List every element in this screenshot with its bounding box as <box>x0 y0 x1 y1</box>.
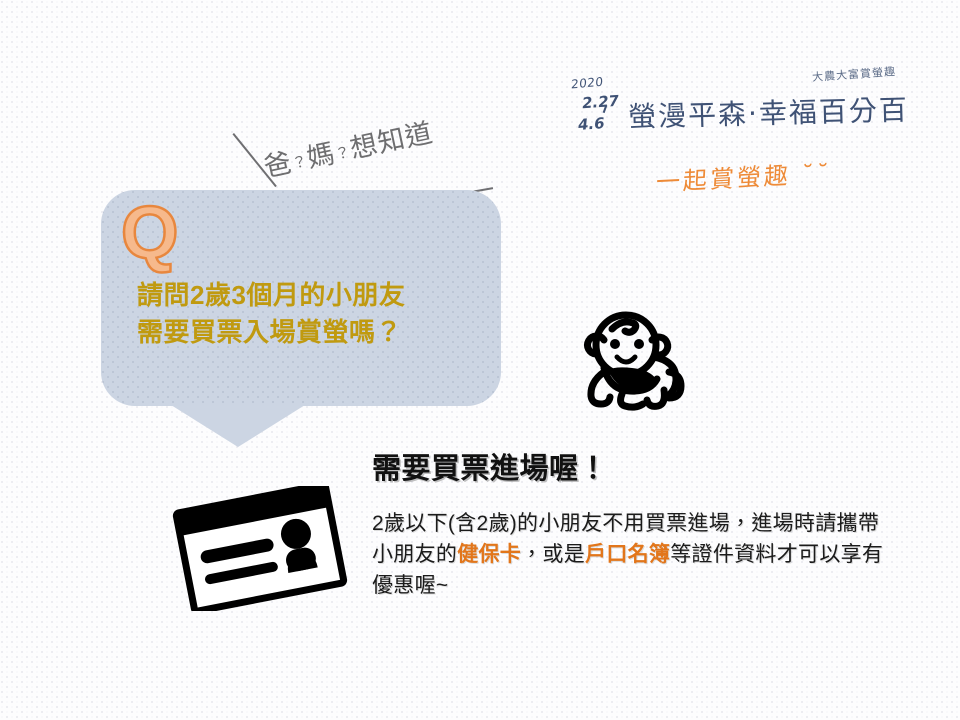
event-subtitle: 一起賞螢趣 ˘˘ <box>655 153 832 197</box>
answer-body: 2歲以下(含2歲)的小朋友不用買票進場，進場時請攜帶小朋友的健保卡，或是戶口名簿… <box>372 508 892 601</box>
pointer-line-left <box>232 133 276 187</box>
speech-bubble-tail <box>171 405 305 447</box>
answer-heading: 需要買票進場喔！ <box>372 445 608 487</box>
date-separator-dash <box>603 105 608 113</box>
parents-prompt-text-3: 想知道 <box>347 117 436 165</box>
answer-body-part-2: ，或是 <box>521 543 585 566</box>
parents-prompt: 爸？媽？想知道 <box>260 111 436 185</box>
question-line-1: 請問2歲3個月的小朋友 <box>137 277 487 314</box>
question-text: 請問2歲3個月的小朋友 需要買票入場賞螢嗎？ <box>137 277 487 351</box>
answer-highlight-household-register: 戶口名簿 <box>585 543 670 566</box>
parents-prompt-text-2: 媽 <box>304 138 338 174</box>
event-date-end: 4.6 <box>577 114 605 134</box>
event-title: 螢漫平森‧幸福百分百 <box>628 88 910 135</box>
parents-prompt-text-1: 爸 <box>261 147 295 183</box>
question-line-2: 需要買票入場賞螢嗎？ <box>137 314 487 351</box>
id-card-icon <box>170 486 350 616</box>
slide-canvas: 大農大富賞螢趣 2020 2.27 4.6 螢漫平森‧幸福百分百 一起賞螢趣 ˘… <box>0 0 960 720</box>
event-year: 2020 <box>571 75 604 92</box>
crawling-baby-icon <box>560 302 690 427</box>
question-badge-q: Q <box>121 196 179 270</box>
answer-highlight-health-card: 健保卡 <box>457 543 521 566</box>
event-tagline: 大農大富賞螢趣 <box>812 63 897 85</box>
parents-prompt-qmark-2: ？ <box>333 143 352 164</box>
parents-prompt-qmark-1: ？ <box>290 152 309 173</box>
event-date-start: 2.27 <box>581 92 620 113</box>
